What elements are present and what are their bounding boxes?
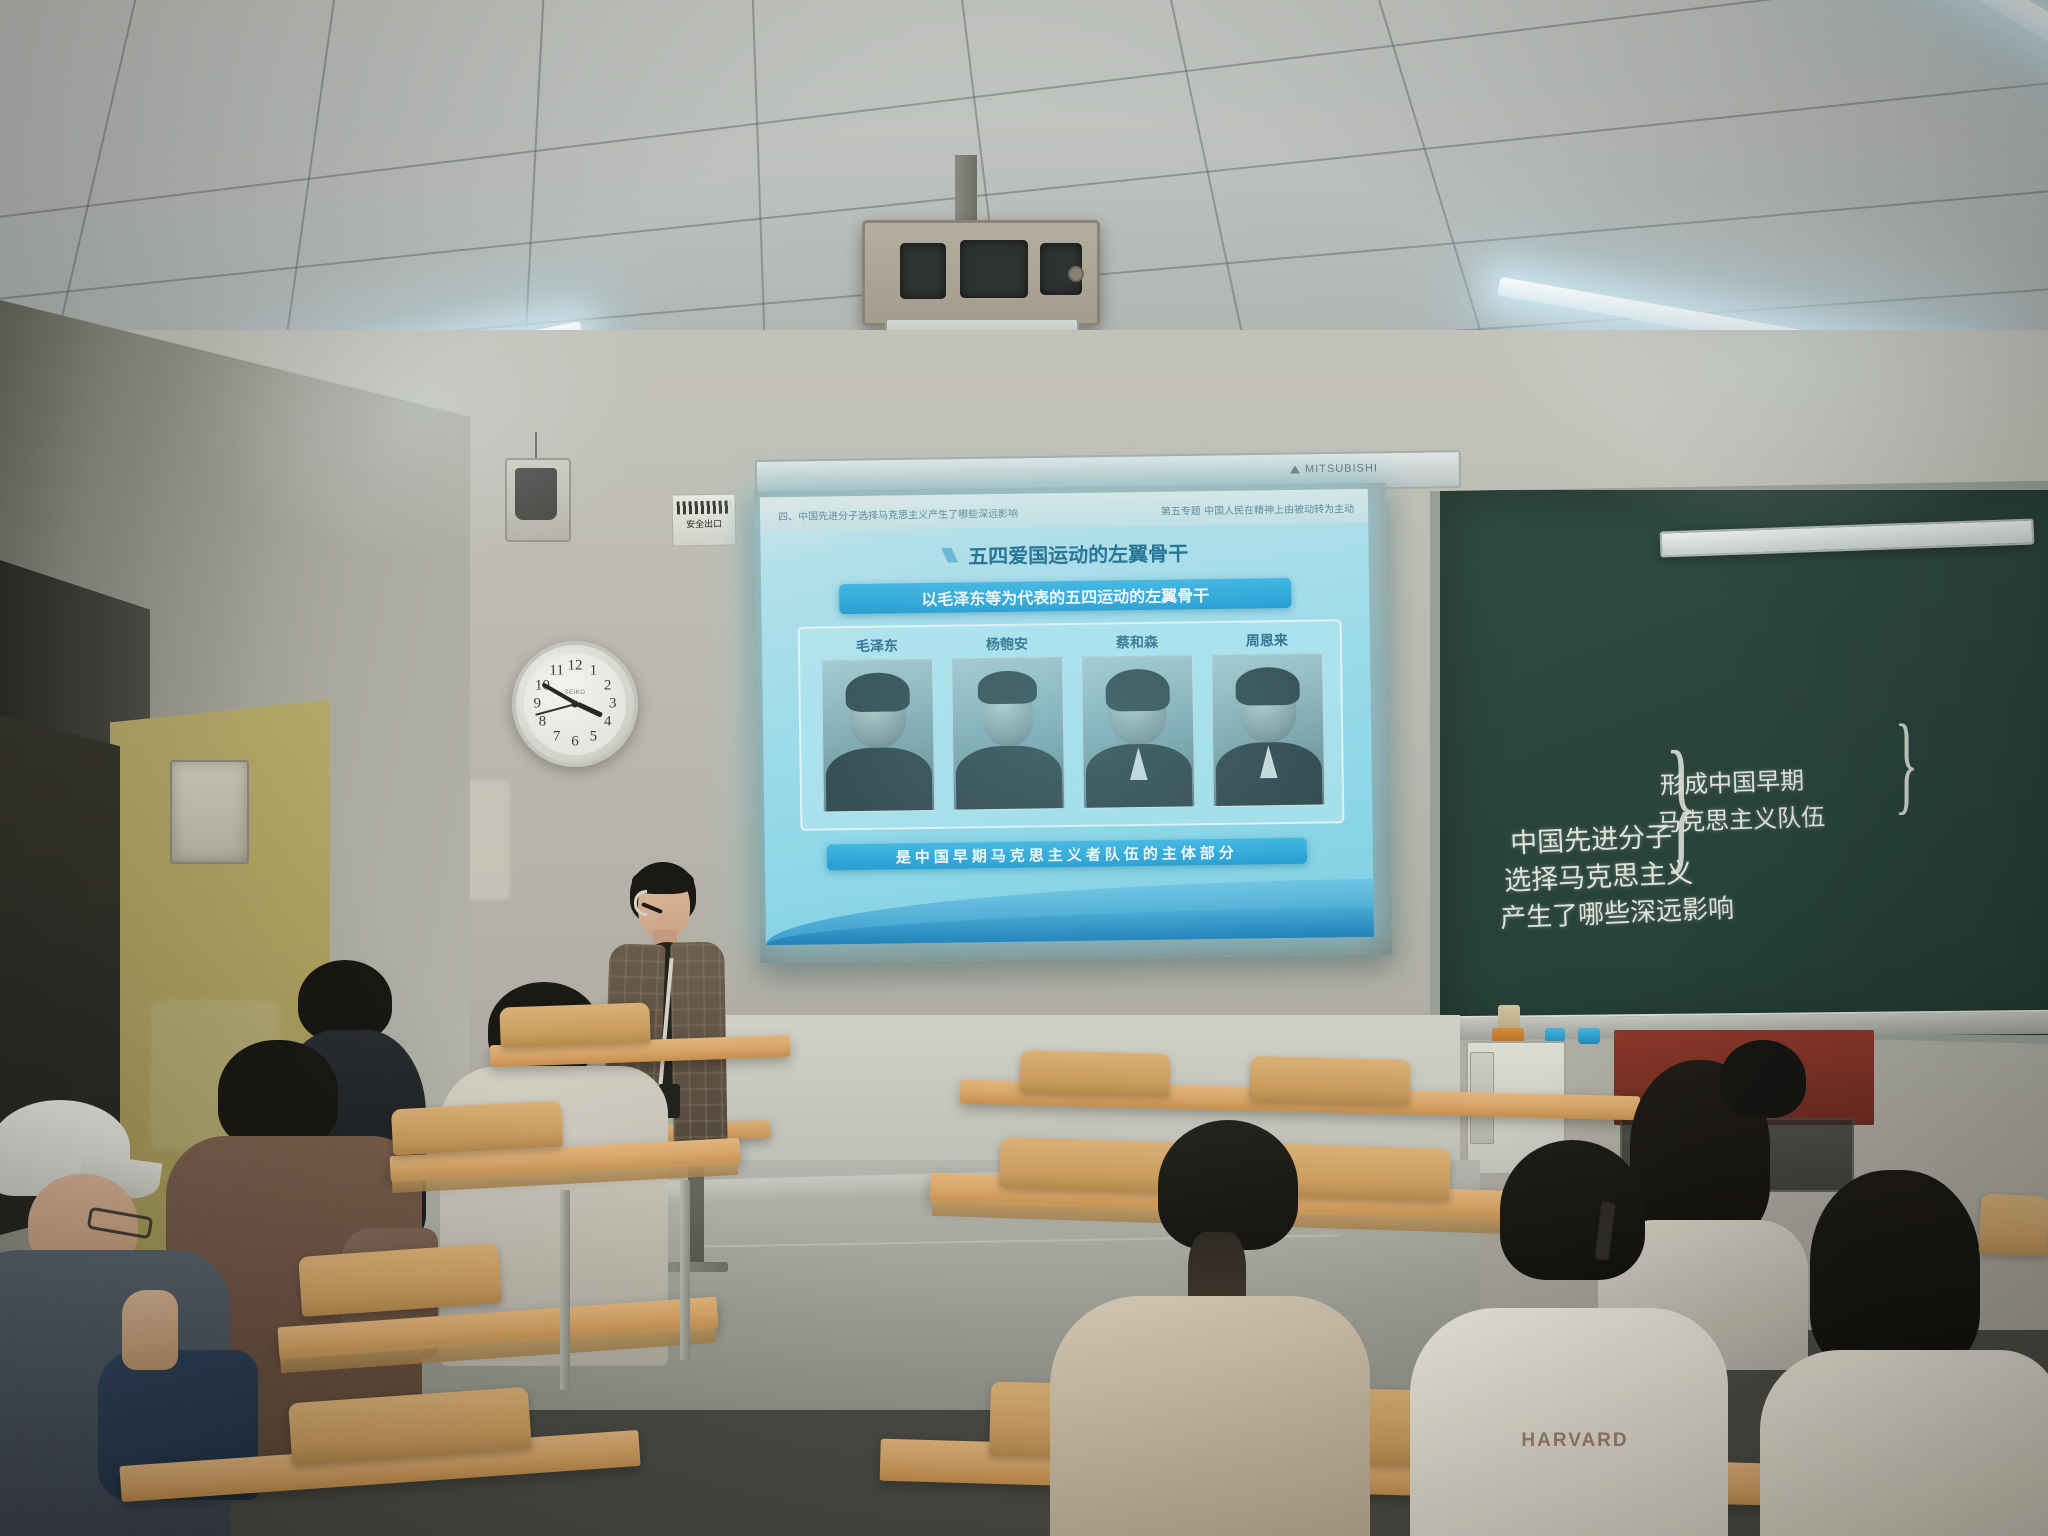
student-hair [1810, 1170, 1980, 1370]
portrait-name-2: 杨匏安 [986, 634, 1028, 655]
projection-screen-frame: 四、中国先进分子选择马克思主义产生了哪些深远影响 第五专题 中国人民在精神上由被… [754, 483, 1393, 964]
projector-cable-window-left [900, 243, 946, 299]
presentation-slide[interactable]: 四、中国先进分子选择马克思主义产生了哪些深远影响 第五专题 中国人民在精神上由被… [760, 489, 1374, 945]
slide-section-title-text: 五四爱国运动的左翼骨干 [968, 537, 1188, 569]
portrait-image-2 [951, 657, 1065, 811]
water-bottle-blue-2[interactable] [1578, 1028, 1600, 1044]
clock-num-1: 1 [590, 663, 598, 680]
exit-sign-label: 安全出口 [673, 516, 735, 530]
slide-section-title: 五四爱国运动的左翼骨干 [941, 537, 1188, 569]
clock-num-11: 11 [549, 663, 563, 680]
clock-num-3: 3 [609, 696, 617, 713]
screen-brand-label: MITSUBISHI [1305, 462, 1378, 475]
side-chair-far-right[interactable] [1978, 1193, 2048, 1256]
student-hair [1720, 1040, 1806, 1118]
clock-num-6: 6 [571, 733, 579, 750]
door-notice-panel [170, 760, 249, 864]
student-torso [1410, 1308, 1728, 1536]
student-sweater-graphic: HARVARD [1521, 1430, 1628, 1452]
portrait-image-4 [1211, 654, 1325, 808]
slide-portrait-strip: 毛泽东 杨匏安 蔡和森 [798, 619, 1345, 831]
student-torso [1050, 1296, 1370, 1536]
mitsubishi-logo-icon [1290, 465, 1300, 473]
portrait-name-4: 周恩来 [1246, 630, 1288, 651]
clock-num-2: 2 [604, 677, 612, 694]
clock-hour-hand [576, 702, 603, 718]
portrait-image-3 [1081, 655, 1195, 809]
portrait-cell-3: 蔡和森 [1082, 631, 1194, 809]
seat-left-far[interactable] [499, 1002, 650, 1047]
seat-left-row1[interactable] [391, 1101, 563, 1156]
chalkboard-note-right-line2: 马克思主义队伍 [1656, 797, 1825, 838]
slide-note-top-right: 第五专题 中国人民在精神上由被动转为主动 [1161, 500, 1354, 518]
clock-num-7: 7 [553, 728, 561, 745]
slide-bullet-icon [941, 548, 958, 563]
wall-clock: 12 1 2 3 4 5 6 7 8 9 10 11 SEIKO [512, 641, 638, 767]
clock-num-4: 4 [604, 714, 612, 731]
clock-num-5: 5 [590, 728, 598, 745]
student-hand [122, 1290, 178, 1370]
student-hair-bun [1500, 1140, 1645, 1280]
classroom-photo: 安全出口 12 1 2 3 4 5 6 7 8 9 10 11 SEIKO 中国… [0, 0, 2048, 1536]
speaker-wire [535, 432, 537, 460]
student-torso [1760, 1350, 2048, 1536]
portrait-cell-4: 周恩来 [1212, 630, 1324, 808]
projector-screw [1068, 266, 1084, 282]
exit-sign-poster: 安全出口 [672, 493, 737, 546]
speaker-grille [515, 468, 557, 520]
student-far-right-standing [1690, 1040, 1830, 1200]
clock-num-8: 8 [539, 714, 547, 731]
projection-screen-brand: MITSUBISHI [1290, 462, 1378, 475]
desk-left-leg-2 [680, 1180, 690, 1360]
portrait-name-1: 毛泽东 [856, 635, 898, 656]
seat-right-row1a[interactable] [1020, 1050, 1171, 1096]
portrait-cell-1: 毛泽东 [822, 635, 934, 813]
projector-cable-window-center [960, 240, 1028, 298]
student-beige-sweater [1050, 1120, 1390, 1520]
student-hair-bun [1158, 1120, 1298, 1250]
portrait-name-3: 蔡和森 [1116, 632, 1158, 653]
clock-second-hand [535, 703, 576, 716]
desk-left-leg-1 [560, 1190, 570, 1390]
clock-num-9: 9 [534, 696, 542, 713]
clock-brand: SEIKO [565, 690, 586, 696]
chalkboard-note-right-line1: 形成中国早期 [1659, 760, 1804, 800]
clock-face: 12 1 2 3 4 5 6 7 8 9 10 11 SEIKO [524, 653, 626, 755]
seat-right-row1b[interactable] [1249, 1056, 1410, 1104]
chalkboard-brace-right: } [1895, 700, 1919, 827]
clock-center-pin [572, 701, 579, 708]
portrait-cell-2: 杨匏安 [952, 633, 1064, 811]
portrait-image-1 [821, 659, 935, 813]
slide-headline-banner: 以毛泽东等为代表的五四运动的左翼骨干 [839, 578, 1291, 614]
slide-footer-banner: 是中国早期马克思主义者队伍的主体部分 [827, 838, 1307, 871]
clock-num-12: 12 [568, 658, 583, 675]
